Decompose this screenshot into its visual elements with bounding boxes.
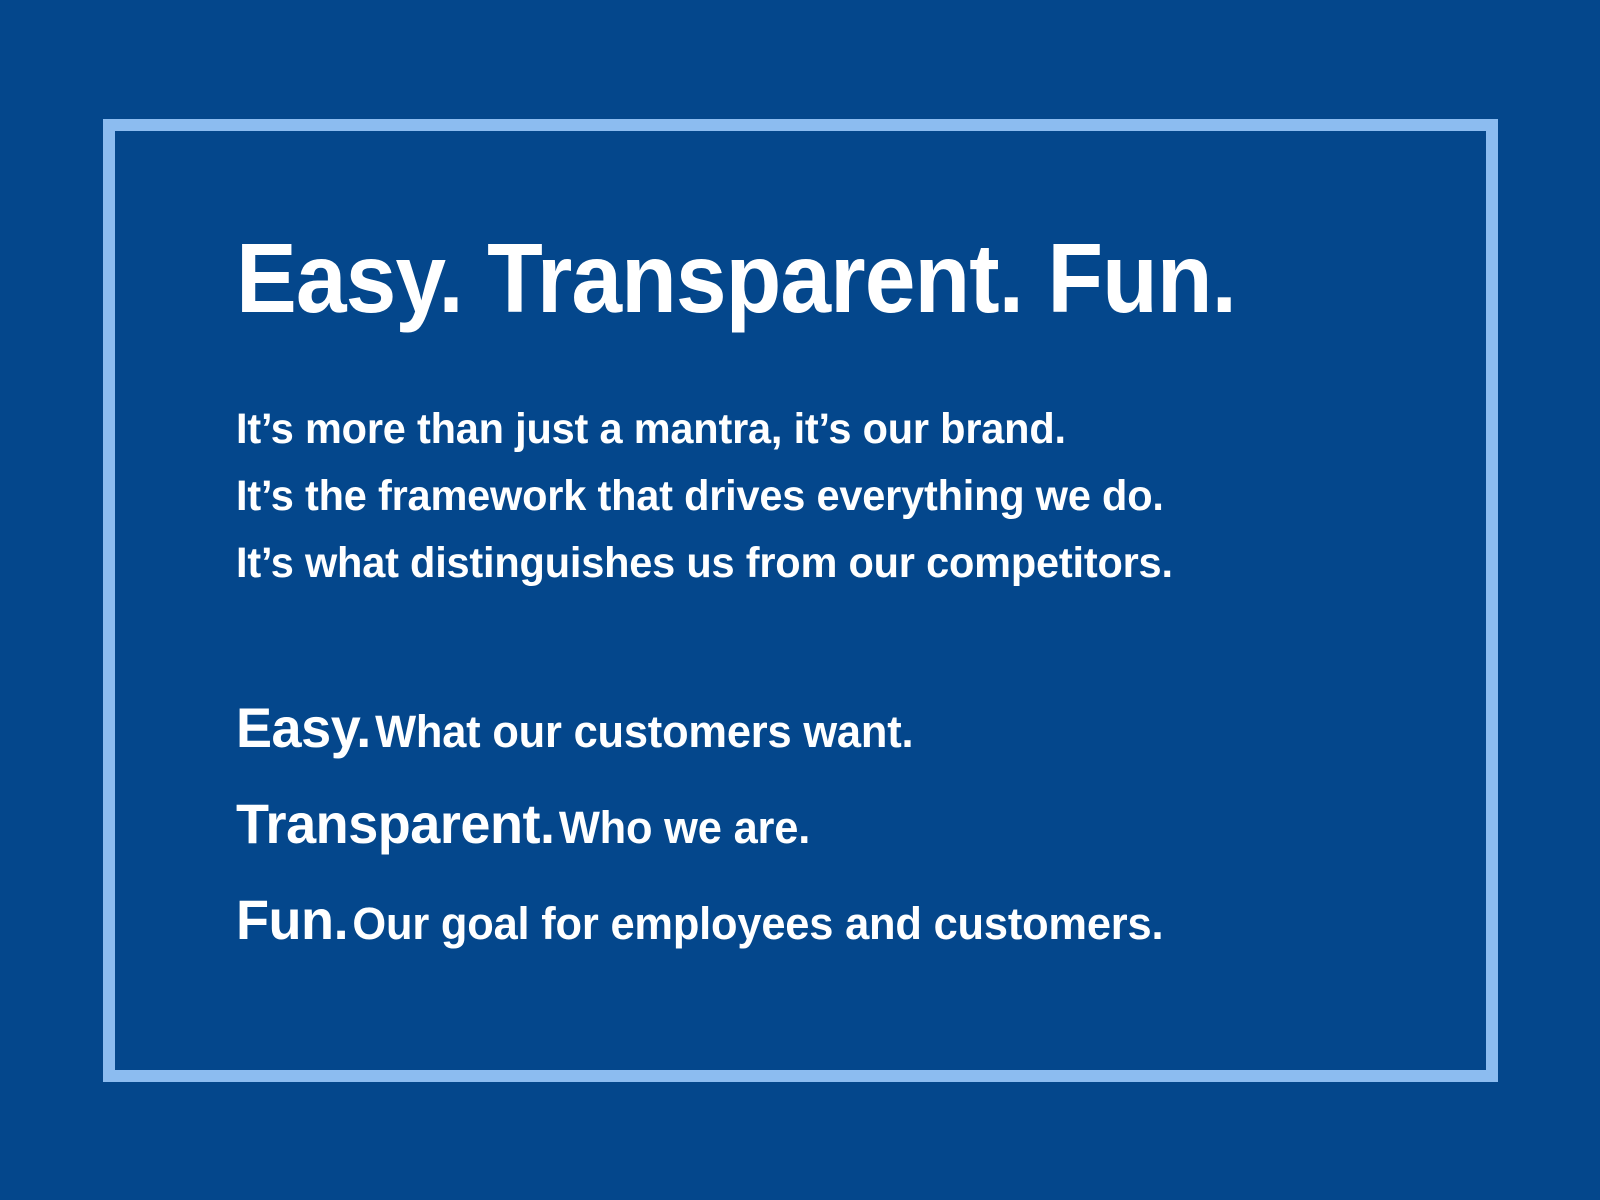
point-description-easy: What our customers want. <box>375 706 913 757</box>
slide-canvas: Easy. Transparent. Fun. It’s more than j… <box>0 0 1600 1200</box>
slide-content: Easy. Transparent. Fun. It’s more than j… <box>236 228 1356 975</box>
point-lead-transparent: Transparent. <box>236 792 555 855</box>
list-item: Easy. What our customers want. <box>236 687 1317 783</box>
intro-paragraph: It’s more than just a mantra, it’s our b… <box>236 396 1317 597</box>
value-points-list: Easy. What our customers want. Transpare… <box>236 687 1317 975</box>
list-item: Transparent. Who we are. <box>236 783 1317 879</box>
point-lead-fun: Fun. <box>236 888 348 951</box>
point-lead-easy: Easy. <box>236 696 371 759</box>
list-item: Fun. Our goal for employees and customer… <box>236 879 1317 975</box>
page-title: Easy. Transparent. Fun. <box>236 228 1278 330</box>
point-description-transparent: Who we are. <box>559 802 810 853</box>
intro-line-3: It’s what distinguishes us from our comp… <box>236 530 1317 597</box>
intro-line-2: It’s the framework that drives everythin… <box>236 463 1317 530</box>
intro-line-1: It’s more than just a mantra, it’s our b… <box>236 396 1317 463</box>
point-description-fun: Our goal for employees and customers. <box>352 898 1163 949</box>
